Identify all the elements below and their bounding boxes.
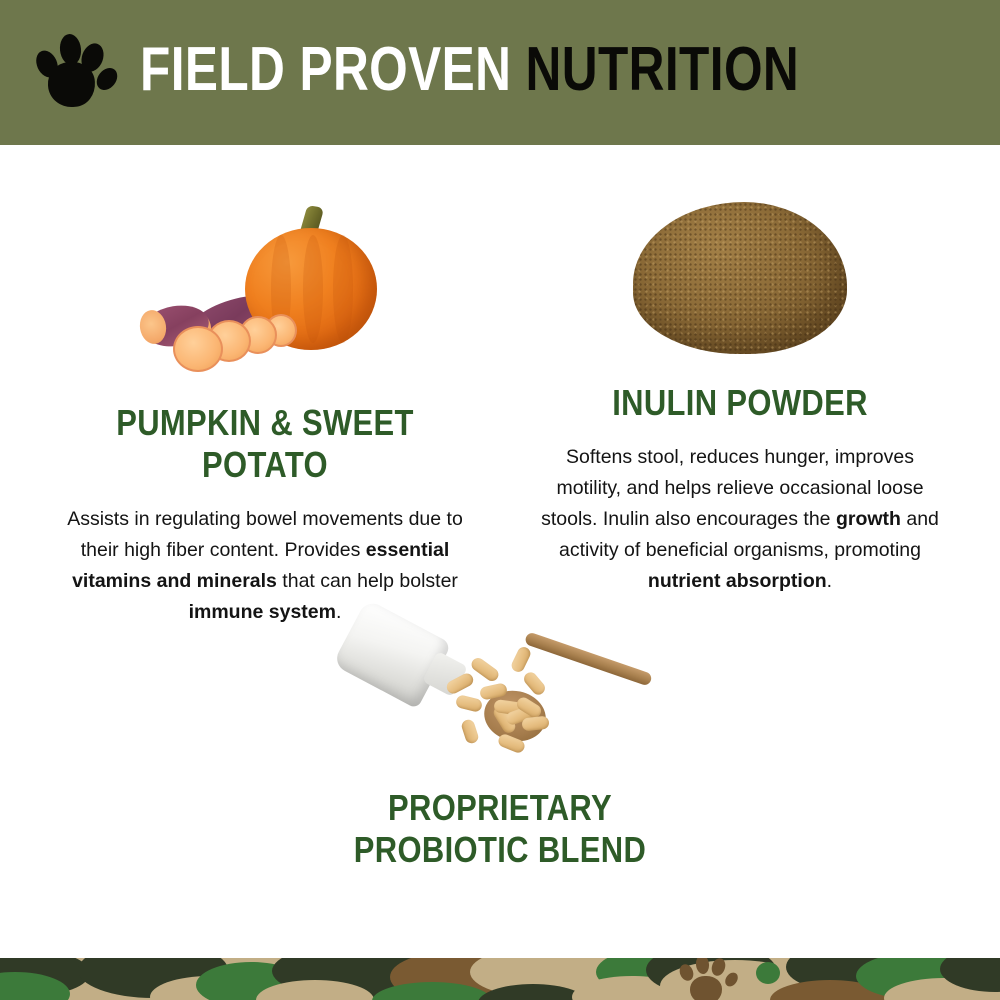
- pumpkin-and-sweet-potato-image: [135, 190, 395, 390]
- page-title-secondary: NUTRITION: [526, 35, 800, 104]
- header-banner: FIELD PROVEN NUTRITION: [0, 0, 1000, 145]
- camouflage-footer: [0, 958, 1000, 1000]
- ingredient-heading-pumpkin-sweet-potato: PUMPKIN & SWEET POTATO: [63, 402, 467, 486]
- ingredient-heading-inulin-powder: INULIN POWDER: [538, 382, 942, 424]
- paw-print-icon: [676, 958, 742, 1000]
- header-content: FIELD PROVEN NUTRITION: [36, 30, 964, 110]
- ingredient-card-proprietary-probiotic-blend: PROPRIETARY PROBIOTIC BLEND: [265, 605, 735, 871]
- inulin-powder-image: [625, 190, 855, 370]
- paw-print-icon: [36, 30, 114, 110]
- page-title-primary: FIELD PROVEN: [140, 35, 511, 104]
- probiotic-bottle-image: [330, 605, 670, 775]
- page-title: FIELD PROVEN NUTRITION: [140, 39, 799, 101]
- ingredient-heading-probiotic-line-1: PROPRIETARY: [298, 787, 702, 829]
- wooden-spoon-handle: [524, 631, 653, 686]
- ingredient-description-inulin-powder: Softens stool, reduces hunger, improves …: [540, 442, 940, 597]
- ingredient-card-inulin-powder: INULIN POWDER Softens stool, reduces hun…: [505, 190, 975, 597]
- supplement-bottle: [332, 599, 452, 709]
- ingredient-grid: PUMPKIN & SWEET POTATO Assists in regula…: [0, 145, 1000, 958]
- powder-mound: [633, 202, 847, 354]
- ingredient-card-pumpkin-sweet-potato: PUMPKIN & SWEET POTATO Assists in regula…: [30, 190, 500, 628]
- ingredient-heading-probiotic-line-2: PROBIOTIC BLEND: [298, 829, 702, 871]
